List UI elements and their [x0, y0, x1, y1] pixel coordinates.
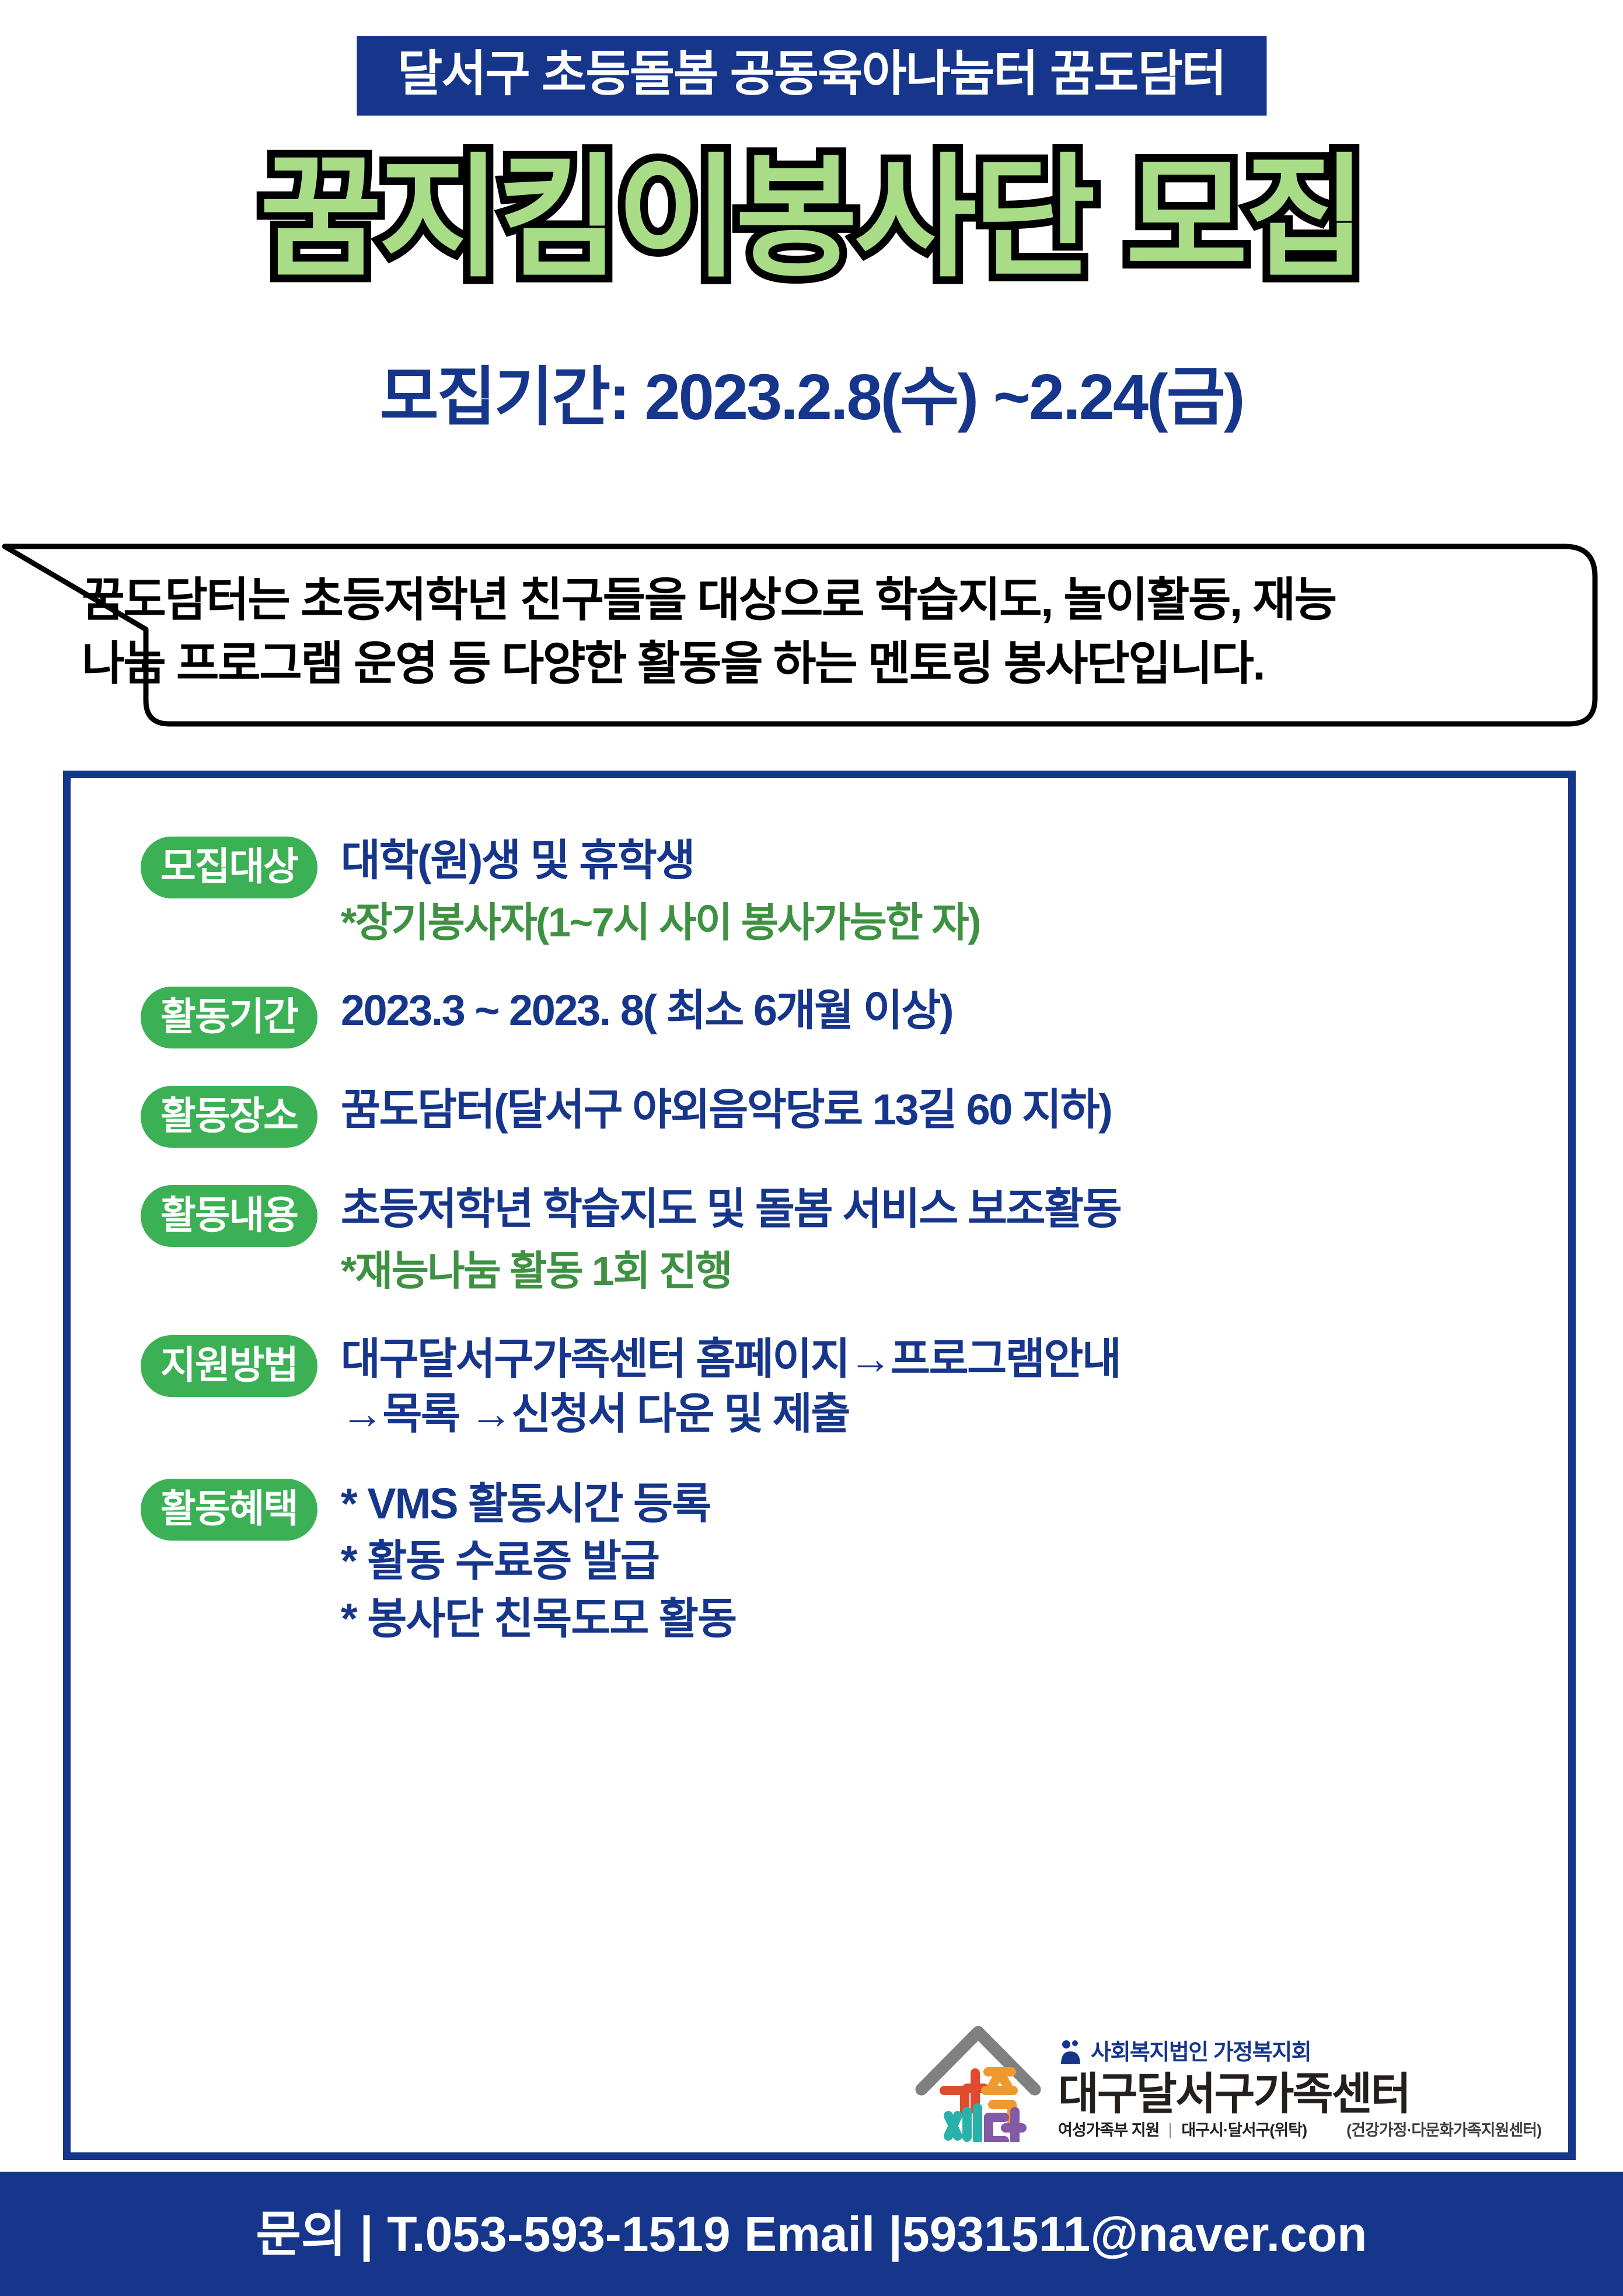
page-title: 꿈지킴이봉사단 모집: [0, 149, 1623, 288]
logo-sub-line: 여성가족부 지원 대구시·달서구(위탁) (건강가정·다문화가족지원센터): [1058, 2123, 1541, 2138]
info-row: 활동기간 2023.3 ~ 2023. 8( 최소 6개월 이상): [141, 982, 1553, 1048]
footer-contact-text: 문의 | T.053-593-1519 Email |5931511@naver…: [256, 2210, 1367, 2259]
info-value: 꿈도담터(달서구 야외음악당로 13길 60 지하): [341, 1082, 1553, 1137]
recruit-period: 모집기간: 2023.2.8(수) ~2.24(금): [0, 362, 1623, 433]
info-value: 대구달서구가족센터 홈페이지→프로그램안내: [341, 1332, 1553, 1386]
info-label-pill-target: 모집대상: [141, 837, 317, 898]
header-banner: 달서구 초등돌봄 공동육아나눔터 꿈도담터: [357, 36, 1266, 116]
info-row: 모집대상 대학(원)생 및 휴학생 *장기봉사자(1~7시 사이 봉사가능한 자…: [141, 832, 1553, 949]
benefit-item: * VMS 활동시간 등록: [341, 1475, 1553, 1532]
info-values: 2023.3 ~ 2023. 8( 최소 6개월 이상): [317, 982, 1553, 1038]
info-value: 대학(원)생 및 휴학생: [341, 833, 1553, 888]
footer-contact-bar: 문의 | T.053-593-1519 Email |5931511@naver…: [0, 2172, 1623, 2296]
gajeong-welfare-mark-icon: [1058, 2037, 1083, 2068]
speech-bubble-text: 꿈도담터는 초등저학년 친구들을 대상으로 학습지도, 놀이활동, 재능 나눔 …: [82, 569, 1529, 696]
benefit-item: * 활동 수료증 발급: [341, 1532, 1553, 1590]
info-label-pill-benefit: 활동혜택: [141, 1479, 317, 1541]
info-value-continued: →목록 →신청서 다운 및 제출: [341, 1386, 1553, 1441]
info-panel: 모집대상 대학(원)생 및 휴학생 *장기봉사자(1~7시 사이 봉사가능한 자…: [63, 771, 1576, 2160]
header-banner-label: 달서구 초등돌봄 공동육아나눔터 꿈도담터: [397, 49, 1226, 98]
logo-block: 사회복지법인 가정복지회 대구달서구가족센터 여성가족부 지원 대구시·달서구(…: [911, 2002, 1541, 2142]
logo-sub-left: 여성가족부 지원: [1058, 2123, 1159, 2138]
info-values: 꿈도담터(달서구 야외음악당로 13길 60 지하): [317, 1081, 1553, 1137]
logo-org-line: 사회복지법인 가정복지회: [1058, 2037, 1541, 2068]
info-label-pill-period: 활동기간: [141, 987, 317, 1048]
speech-bubble-line-1: 꿈도담터는 초등저학년 친구들을 대상으로 학습지도, 놀이활동, 재능: [82, 569, 1529, 632]
family-center-house-icon: [911, 2002, 1045, 2142]
info-value: 2023.3 ~ 2023. 8( 최소 6개월 이상): [341, 983, 1553, 1038]
logo-center-name: 대구달서구가족센터: [1058, 2071, 1541, 2118]
benefit-item: * 봉사단 친목도모 활동: [341, 1590, 1553, 1647]
info-values: * VMS 활동시간 등록 * 활동 수료증 발급 * 봉사단 친목도모 활동: [317, 1474, 1553, 1647]
info-label-pill-location: 활동장소: [141, 1086, 317, 1148]
speech-bubble: 꿈도담터는 초등저학년 친구들을 대상으로 학습지도, 놀이활동, 재능 나눔 …: [0, 542, 1623, 729]
info-row-list: 모집대상 대학(원)생 및 휴학생 *장기봉사자(1~7시 사이 봉사가능한 자…: [141, 832, 1553, 1667]
info-row: 활동내용 초등저학년 학습지도 및 돌봄 서비스 보조활동 *재능나눔 활동 1…: [141, 1180, 1553, 1298]
info-values: 대학(원)생 및 휴학생 *장기봉사자(1~7시 사이 봉사가능한 자): [317, 832, 1553, 949]
logo-text-column: 사회복지법인 가정복지회 대구달서구가족센터 여성가족부 지원 대구시·달서구(…: [1058, 2037, 1541, 2142]
info-values: 대구달서구가족센터 홈페이지→프로그램안내 →목록 →신청서 다운 및 제출: [317, 1330, 1553, 1441]
info-values: 초등저학년 학습지도 및 돌봄 서비스 보조활동 *재능나눔 활동 1회 진행: [317, 1180, 1553, 1298]
logo-sub-right: (건강가정·다문화가족지원센터): [1346, 2123, 1541, 2138]
speech-bubble-line-2: 나눔 프로그램 운영 등 다양한 활동을 하는 멘토링 봉사단입니다.: [82, 632, 1529, 696]
logo-sub-mid: 대구시·달서구(위탁): [1181, 2123, 1307, 2138]
logo-org-label: 사회복지법인 가정복지회: [1091, 2041, 1311, 2064]
info-row: 활동장소 꿈도담터(달서구 야외음악당로 13길 60 지하): [141, 1081, 1553, 1148]
logo-sub-divider: [1170, 2123, 1171, 2138]
info-note: *재능나눔 활동 1회 진행: [341, 1245, 1553, 1298]
info-row: 활동혜택 * VMS 활동시간 등록 * 활동 수료증 발급 * 봉사단 친목도…: [141, 1474, 1553, 1647]
info-label-pill-apply: 지원방법: [141, 1335, 317, 1397]
info-row: 지원방법 대구달서구가족센터 홈페이지→프로그램안내 →목록 →신청서 다운 및…: [141, 1330, 1553, 1441]
info-value: 초등저학년 학습지도 및 돌봄 서비스 보조활동: [341, 1182, 1553, 1236]
info-note: *장기봉사자(1~7시 사이 봉사가능한 자): [341, 896, 1553, 949]
info-label-pill-content: 활동내용: [141, 1185, 317, 1247]
